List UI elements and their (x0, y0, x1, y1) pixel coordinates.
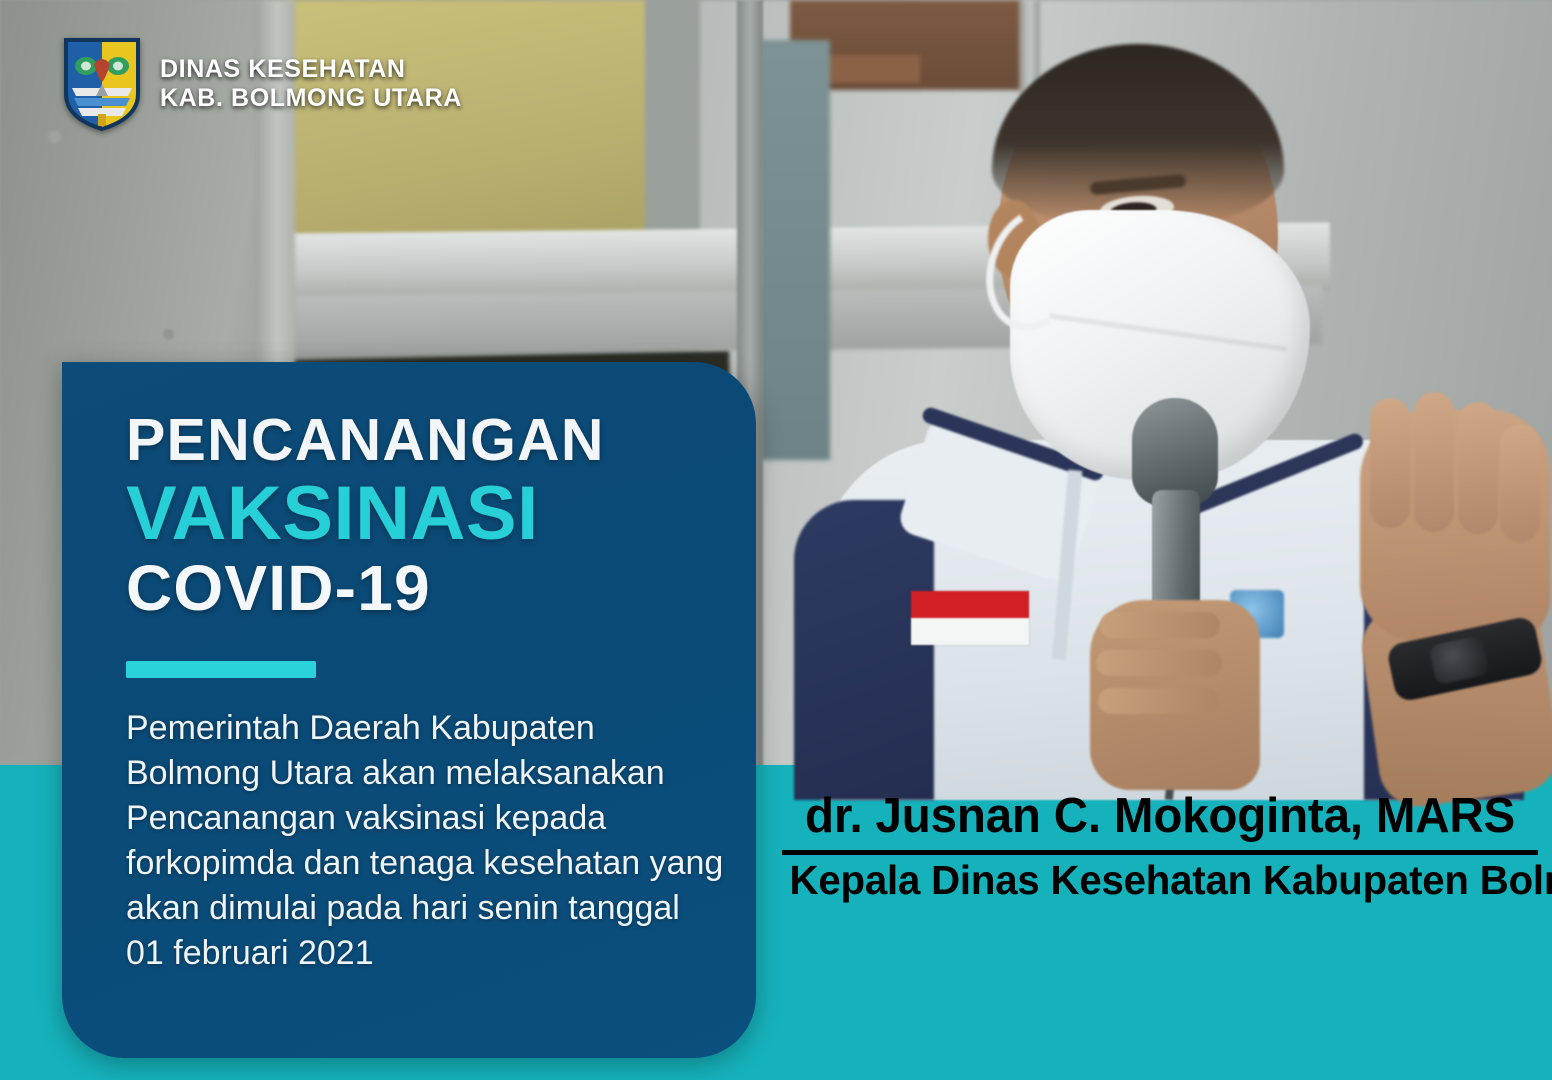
announcement-panel-content: PENCANANGAN VAKSINASI COVID-19 Pemerinta… (126, 410, 726, 976)
shield-emblem-icon (62, 36, 142, 132)
org-line-2: KAB. BOLMONG UTARA (160, 84, 462, 114)
poster-canvas: DINAS KESEHATAN KAB. BOLMONG UTARA PENCA… (0, 0, 1552, 1080)
title-line-1: PENCANANGAN (126, 410, 726, 470)
announcement-panel: PENCANANGAN VAKSINASI COVID-19 Pemerinta… (62, 362, 756, 1058)
speaker-caption: dr. Jusnan C. Mokoginta, MARS Kepala Din… (782, 792, 1538, 902)
org-line-1: DINAS KESEHATAN (160, 55, 462, 85)
subject-sleeve-left (794, 500, 934, 800)
announcement-body-text: Pemerintah Daerah Kabupaten Bolmong Utar… (126, 706, 726, 975)
caption-divider (782, 850, 1538, 855)
subject-photo (760, 0, 1552, 790)
organization-name: DINAS KESEHATAN KAB. BOLMONG UTARA (160, 55, 462, 114)
subject-finger-raised (1370, 398, 1410, 528)
speaker-role: Kepala Dinas Kesehatan Kabupaten Bolmut (790, 859, 1531, 902)
subject-finger-raised (1414, 392, 1454, 532)
title-line-3: COVID-19 (126, 556, 726, 621)
subject-finger-raised (1458, 402, 1498, 534)
subject-finger-raised (1500, 424, 1540, 542)
indonesia-flag-patch-icon (910, 590, 1030, 646)
title-line-2: VAKSINASI (126, 476, 726, 552)
title-divider (126, 661, 316, 678)
organization-header: DINAS KESEHATAN KAB. BOLMONG UTARA (62, 36, 462, 132)
speaker-name: dr. Jusnan C. Mokoginta, MARS (793, 792, 1526, 842)
subject-finger (1100, 612, 1220, 638)
subject-finger (1096, 650, 1222, 676)
subject-finger (1098, 688, 1218, 714)
